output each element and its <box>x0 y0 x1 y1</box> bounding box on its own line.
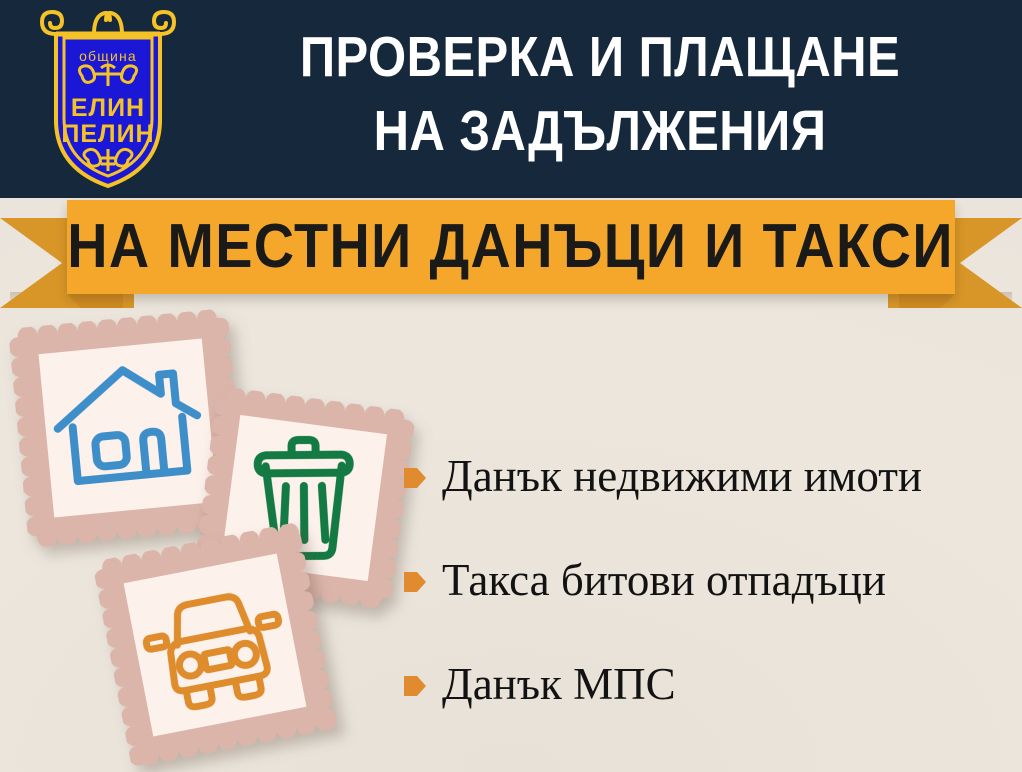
ribbon-label: НА МЕСТНИ ДАНЪЦИ И ТАКСИ <box>68 216 955 278</box>
stamp-card-vehicle-tax <box>92 522 338 768</box>
poster-canvas: община ЕЛИН ПЕЛИН ПРОВЕРКА И ПЛАЩАНЕ НА … <box>0 0 1022 772</box>
page-title: ПРОВЕРКА И ПЛАЩАНЕ НА ЗАДЪЛЖЕНИЯ <box>247 20 952 168</box>
ribbon-center-band: НА МЕСТНИ ДАНЪЦИ И ТАКСИ <box>67 200 955 294</box>
list-item-label: Данък МПС <box>442 659 676 709</box>
tax-type-list: Данък недвижими имоти Такса битови отпад… <box>404 424 1014 736</box>
municipality-crest-logo: община ЕЛИН ПЕЛИН <box>38 8 178 190</box>
page-title-line-1: ПРОВЕРКА И ПЛАЩАНЕ <box>247 20 952 94</box>
list-item[interactable]: Такса битови отпадъци <box>404 528 1014 632</box>
list-item-label: Данък недвижими имоти <box>442 451 922 501</box>
arrow-bullet-icon <box>404 466 426 490</box>
arrow-bullet-icon <box>404 674 426 698</box>
arrow-bullet-icon <box>404 570 426 594</box>
crest-top-word: община <box>79 48 137 64</box>
list-item[interactable]: Данък МПС <box>404 632 1014 736</box>
list-item[interactable]: Данък недвижими имоти <box>404 424 1014 528</box>
subtitle-ribbon: НА МЕСТНИ ДАНЪЦИ И ТАКСИ <box>0 196 1022 308</box>
list-item-label: Такса битови отпадъци <box>442 555 886 605</box>
crest-name-line1: ЕЛИН <box>71 94 145 122</box>
page-title-line-2: НА ЗАДЪЛЖЕНИЯ <box>247 94 952 168</box>
crest-name-line2: ПЕЛИН <box>61 120 154 148</box>
